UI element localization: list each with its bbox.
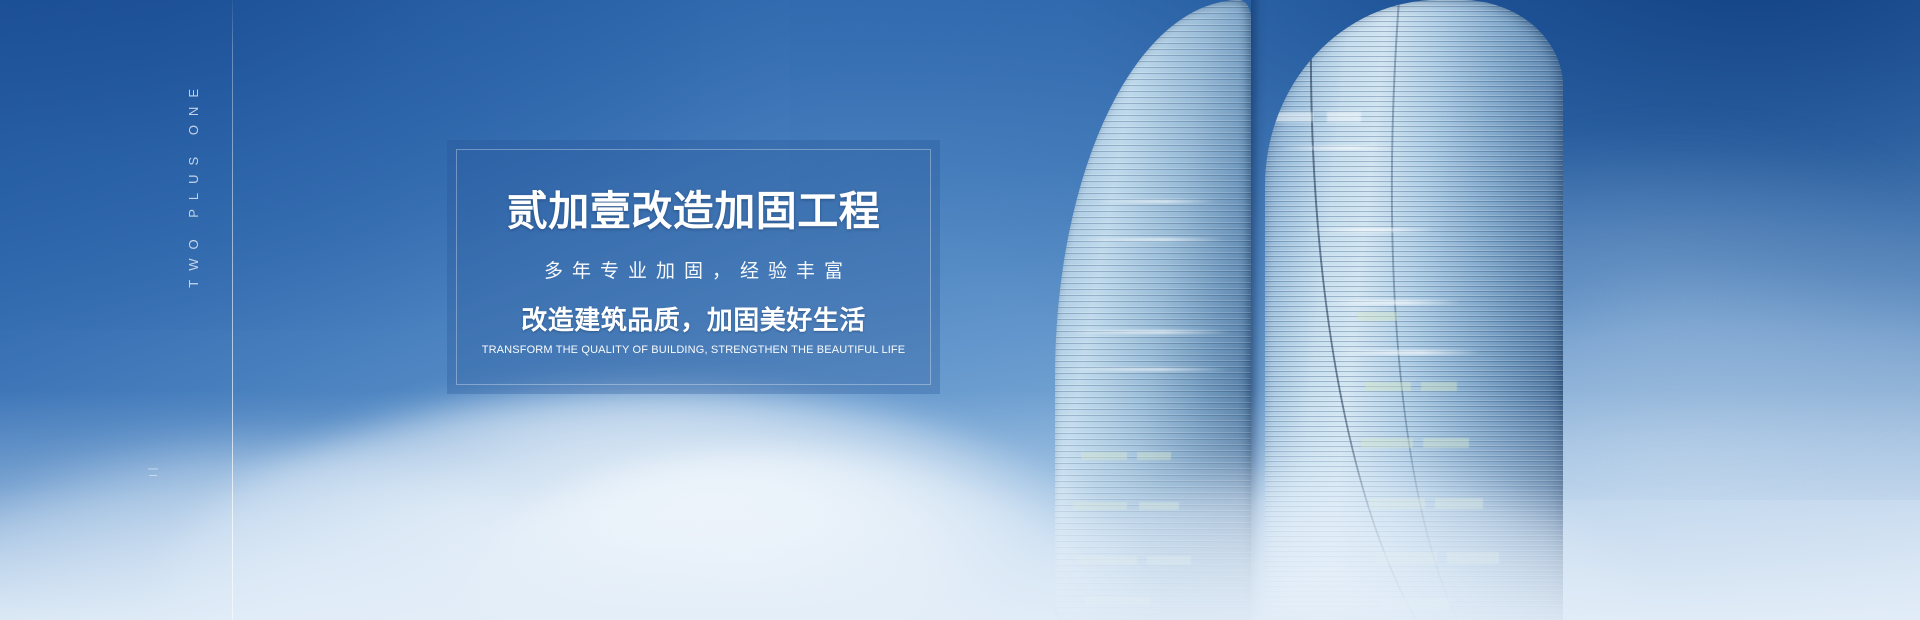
hero-tagline-english: TRANSFORM THE QUALITY OF BUILDING, STREN… (482, 345, 906, 356)
hero-banner: TWO PLUS ONE 二 贰加壹改造加固工程 多年专业加固，经验丰富 改造建… (0, 0, 1920, 620)
tower-right-highlight-3 (1279, 146, 1399, 150)
hero-panel-content: 贰加壹改造加固工程 多年专业加固，经验丰富 改造建筑品质，加固美好生活 TRAN… (456, 149, 931, 385)
tower-right-lit-window-1 (1357, 312, 1397, 321)
tower-right-highlight-5 (1321, 300, 1461, 305)
hero-subtitle: 多年专业加固，经验丰富 (535, 262, 852, 281)
bottom-haze-overlay (0, 390, 1920, 620)
hero-text-panel: 贰加壹改造加固工程 多年专业加固，经验丰富 改造建筑品质，加固美好生活 TRAN… (447, 140, 940, 394)
corner-mark: 二 (146, 466, 162, 478)
tower-right-highlight-6 (1331, 350, 1481, 355)
tower-right-highlight-2 (1327, 112, 1361, 122)
hero-tagline: 改造建筑品质，加固美好生活 (521, 307, 866, 333)
tower-right-highlight-4 (1305, 228, 1435, 232)
tower-left-highlight-3 (1065, 330, 1230, 334)
tower-left-highlight-4 (1059, 368, 1229, 371)
brand-vertical-text: TWO PLUS ONE (186, 80, 206, 288)
vertical-divider-line (232, 0, 233, 620)
tower-left-highlight-1 (1095, 200, 1215, 203)
page-title: 贰加壹改造加固工程 (507, 191, 881, 232)
tower-right-highlight-1 (1273, 112, 1313, 122)
tower-left-highlight-2 (1075, 238, 1225, 241)
